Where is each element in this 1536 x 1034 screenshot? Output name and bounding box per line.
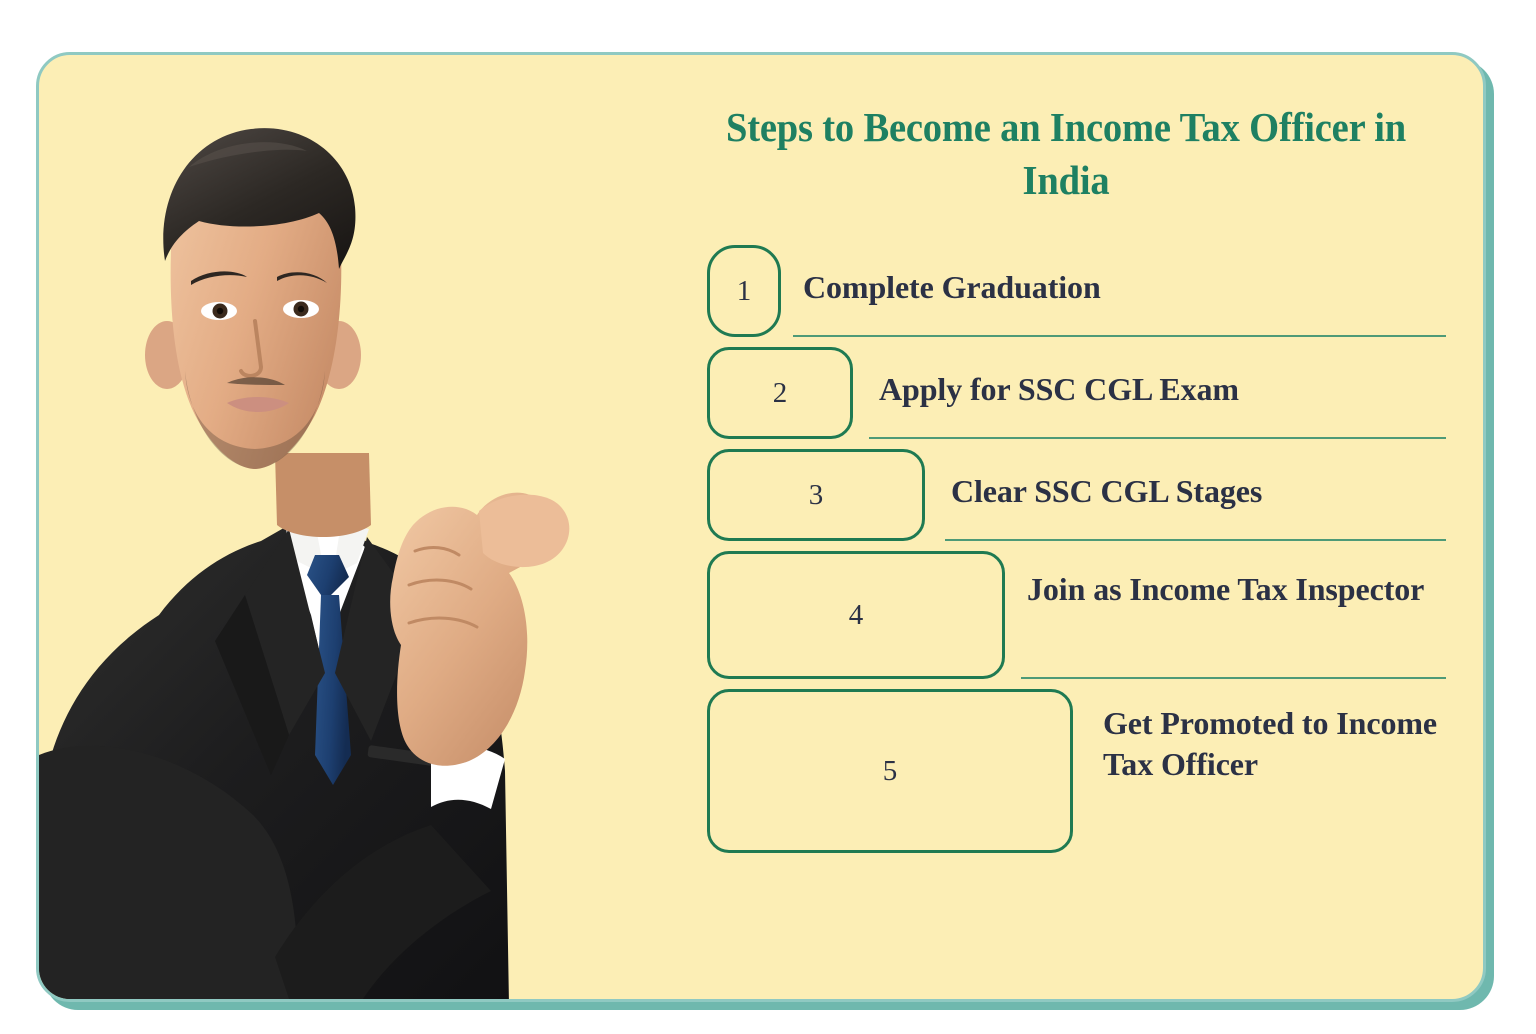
neck — [275, 453, 371, 537]
step-label-1: Complete Graduation — [803, 267, 1463, 308]
steps-panel: Steps to Become an Income Tax Officer in… — [635, 55, 1486, 1002]
step-number-box-5: 5 — [707, 689, 1073, 853]
step-label-4: Join as Income Tax Inspector — [1027, 569, 1467, 610]
page-title: Steps to Become an Income Tax Officer in… — [695, 101, 1438, 208]
step-number-box-2: 2 — [707, 347, 853, 439]
step-number-box-1: 1 — [707, 245, 781, 337]
thumb — [479, 495, 569, 567]
step-label-5: Get Promoted to Income Tax Officer — [1103, 703, 1473, 785]
step-divider-1 — [793, 335, 1446, 337]
step-divider-3 — [945, 539, 1446, 541]
step-number-box-3: 3 — [707, 449, 925, 541]
pupil-right — [298, 306, 304, 312]
infographic-card: Steps to Become an Income Tax Officer in… — [36, 52, 1486, 1002]
step-label-3: Clear SSC CGL Stages — [951, 471, 1486, 512]
pupil-left — [217, 308, 223, 314]
step-label-2: Apply for SSC CGL Exam — [879, 369, 1479, 410]
step-number-box-4: 4 — [707, 551, 1005, 679]
step-divider-4 — [1021, 677, 1446, 679]
step-divider-2 — [869, 437, 1446, 439]
businessman-illustration — [39, 55, 599, 1002]
